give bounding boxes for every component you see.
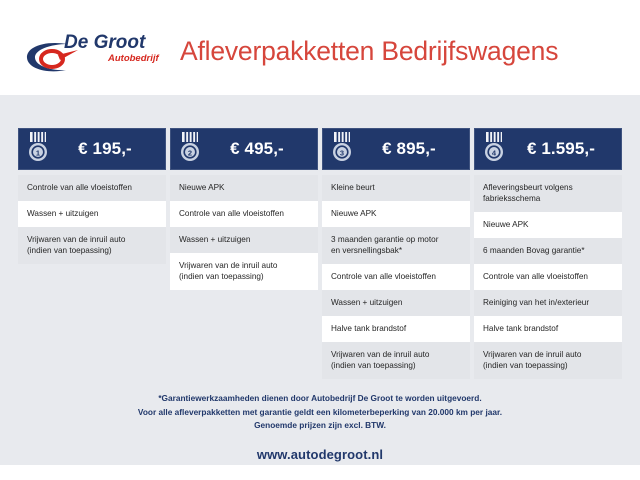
medal-icon: 2 [177,131,203,165]
svg-text:3: 3 [340,148,344,157]
package-item: Vrijwaren van de inruil auto (indien van… [474,342,622,379]
footnote-line-2: Voor alle afleverpakketten met garantie … [0,406,640,420]
package-item-list: Controle van alle vloeistoffenWassen + u… [18,175,166,264]
logo-secondary-text: Autobedrijf [107,53,159,64]
svg-text:1: 1 [36,148,40,157]
package-price: € 1.595,- [507,139,621,159]
package-item-list: Afleveringsbeurt volgens fabrieksschemaN… [474,175,622,379]
package-item: Kleine beurt [322,175,470,201]
footer: *Garantiewerkzaamheden dienen door Autob… [0,392,640,462]
package-item: Controle van alle vloeistoffen [170,201,318,227]
package-price: € 495,- [203,139,317,159]
package-item: Controle van alle vloeistoffen [322,264,470,290]
package-header[interactable]: 1€ 195,- [18,128,166,170]
package-item: Controle van alle vloeistoffen [474,264,622,290]
package-columns: 1€ 195,-Controle van alle vloeistoffenWa… [18,128,622,379]
footnote-line-3: Genoemde prijzen zijn excl. BTW. [0,419,640,433]
package-column: 3€ 895,-Kleine beurtNieuwe APK3 maanden … [322,128,470,379]
package-header[interactable]: 3€ 895,- [322,128,470,170]
company-logo: De Groot Autobedrijf [22,26,167,76]
package-item: Nieuwe APK [474,212,622,238]
poster-root: De Groot Autobedrijf Afleverpakketten Be… [0,0,640,480]
package-item: Vrijwaren van de inruil auto (indien van… [322,342,470,379]
package-item: Nieuwe APK [322,201,470,227]
bottom-white-strip [0,465,640,480]
medal-icon: 4 [481,131,507,165]
package-price: € 895,- [355,139,469,159]
medal-icon: 1 [25,131,51,165]
package-item: Wassen + uitzuigen [18,201,166,227]
package-item: Nieuwe APK [170,175,318,201]
package-item: Vrijwaren van de inruil auto (indien van… [170,253,318,290]
svg-text:2: 2 [188,148,192,157]
package-price: € 195,- [51,139,165,159]
package-item-list: Kleine beurtNieuwe APK3 maanden garantie… [322,175,470,379]
content-panel: 1€ 195,-Controle van alle vloeistoffenWa… [0,95,640,465]
package-item: Halve tank brandstof [474,316,622,342]
medal-icon: 3 [329,131,355,165]
footnote-line-1: *Garantiewerkzaamheden dienen door Autob… [0,392,640,406]
website-link[interactable]: www.autodegroot.nl [0,447,640,462]
package-column: 4€ 1.595,-Afleveringsbeurt volgens fabri… [474,128,622,379]
package-header[interactable]: 4€ 1.595,- [474,128,622,170]
page-title: Afleverpakketten Bedrijfswagens [180,32,625,70]
package-item: 6 maanden Bovag garantie* [474,238,622,264]
package-column: 2€ 495,-Nieuwe APKControle van alle vloe… [170,128,318,379]
package-header[interactable]: 2€ 495,- [170,128,318,170]
package-item-list: Nieuwe APKControle van alle vloeistoffen… [170,175,318,290]
package-item: Reiniging van het in/exterieur [474,290,622,316]
package-item: Afleveringsbeurt volgens fabrieksschema [474,175,622,212]
package-item: Wassen + uitzuigen [170,227,318,253]
header-band: De Groot Autobedrijf Afleverpakketten Be… [0,0,640,95]
package-item: 3 maanden garantie op motor en versnelli… [322,227,470,264]
package-item: Halve tank brandstof [322,316,470,342]
package-item: Wassen + uitzuigen [322,290,470,316]
logo-primary-text: De Groot [64,32,146,53]
package-item: Controle van alle vloeistoffen [18,175,166,201]
logo-graphic: De Groot Autobedrijf [22,26,167,76]
package-column: 1€ 195,-Controle van alle vloeistoffenWa… [18,128,166,379]
package-item: Vrijwaren van de inruil auto (indien van… [18,227,166,264]
